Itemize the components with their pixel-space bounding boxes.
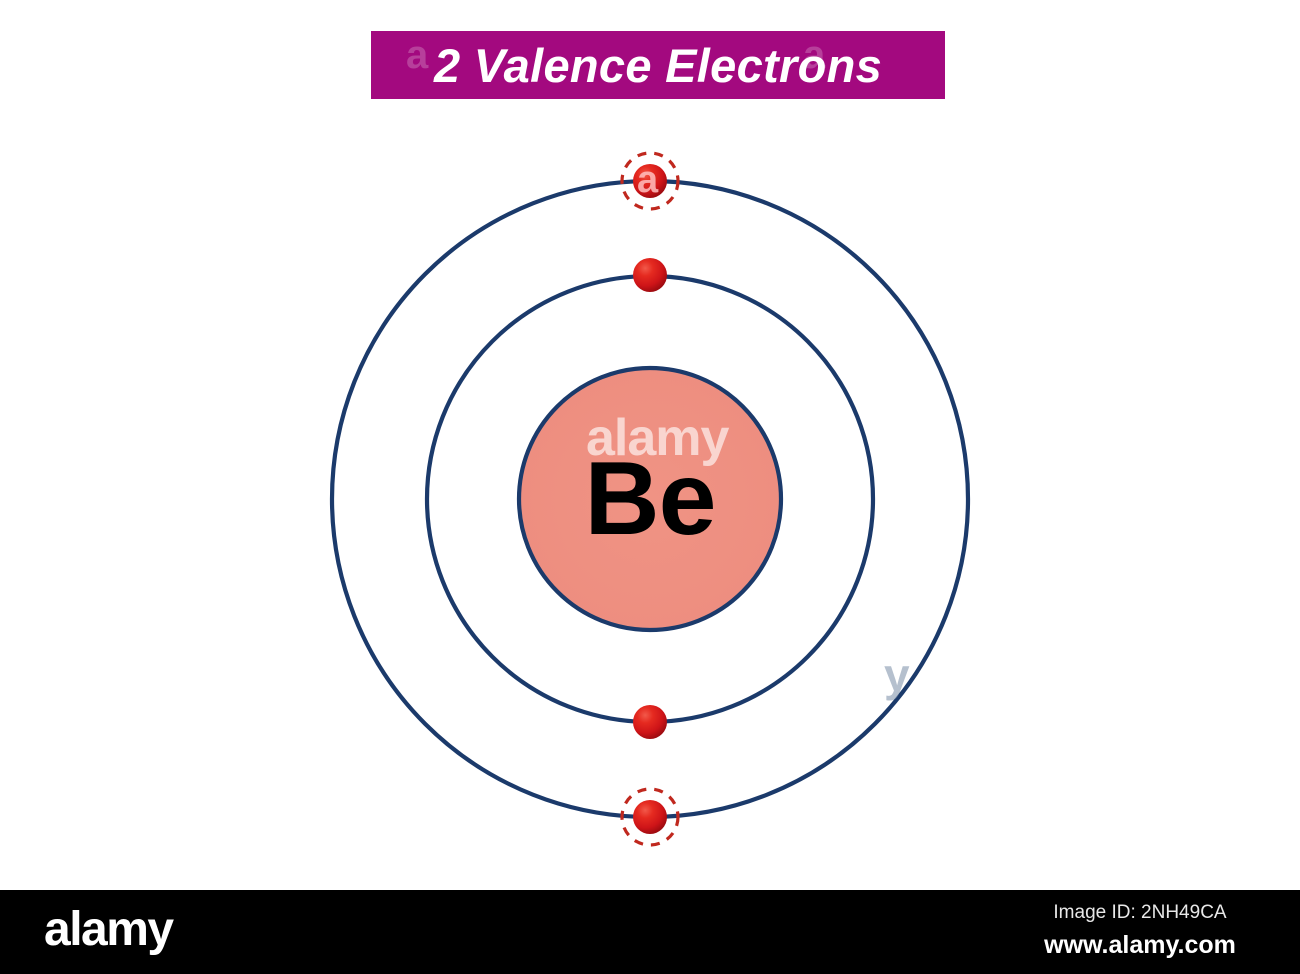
core-electron-top[interactable]	[633, 258, 667, 292]
valence-electron-top[interactable]	[633, 164, 667, 198]
alamy-logo: alamy	[44, 904, 173, 957]
nucleus-circle	[519, 368, 781, 630]
diagram-canvas: 2 Valence Electrons a a Be alamy a y	[0, 0, 1300, 890]
bohr-model-diagram	[0, 0, 1300, 890]
alamy-url: www.alamy.com	[1010, 931, 1270, 960]
image-id-label: Image ID: 2NH49CA	[1010, 902, 1270, 924]
alamy-footer-bar: alamy Image ID: 2NH49CA www.alamy.com	[0, 890, 1300, 974]
title-banner: 2 Valence Electrons	[371, 31, 945, 99]
page-title: 2 Valence Electrons	[434, 42, 882, 89]
valence-electron-bottom[interactable]	[633, 800, 667, 834]
core-electron-bottom[interactable]	[633, 705, 667, 739]
